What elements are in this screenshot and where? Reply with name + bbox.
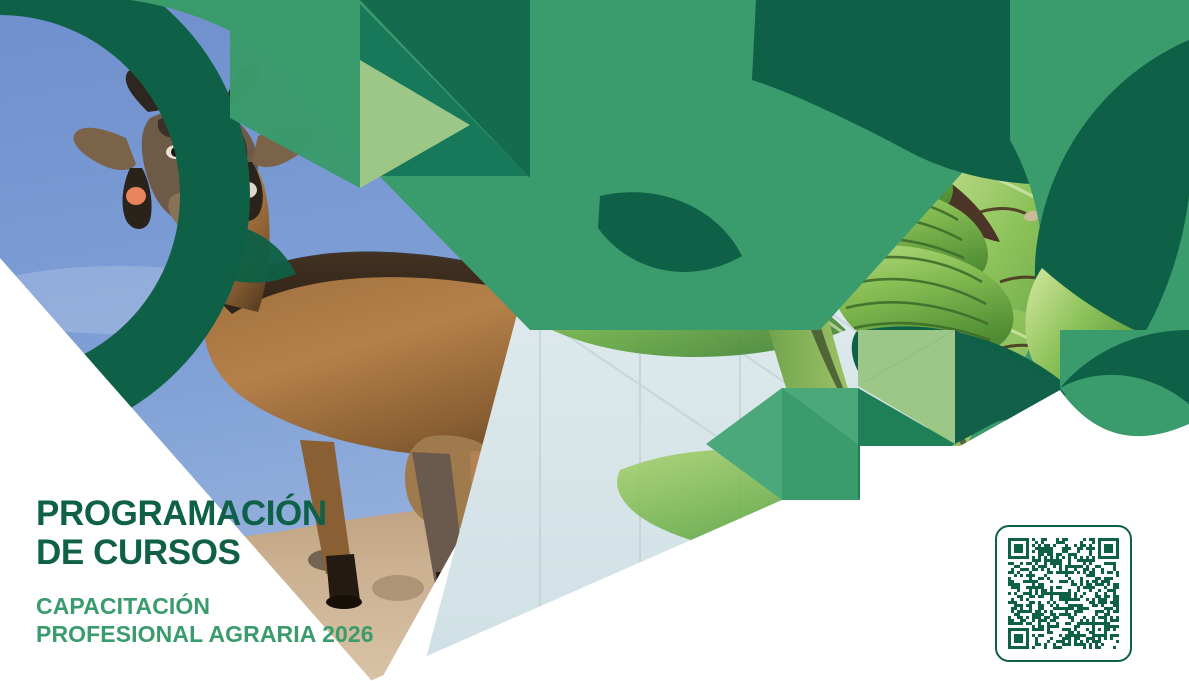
subtitle-line-1: CAPACITACIÓN [36, 592, 374, 620]
subtitle-line-2: PROFESIONAL AGRARIA 2026 [36, 620, 374, 648]
cover-poster: PROGRAMACIÓN DE CURSOS CAPACITACIÓN PROF… [0, 0, 1189, 681]
qr-code-frame[interactable] [995, 525, 1132, 662]
headline-block: PROGRAMACIÓN DE CURSOS CAPACITACIÓN PROF… [36, 494, 374, 648]
subtitle-block: CAPACITACIÓN PROFESIONAL AGRARIA 2026 [36, 592, 374, 648]
title-line-2: DE CURSOS [36, 533, 374, 572]
title-line-1: PROGRAMACIÓN [36, 494, 374, 533]
qr-code[interactable] [1008, 538, 1119, 649]
